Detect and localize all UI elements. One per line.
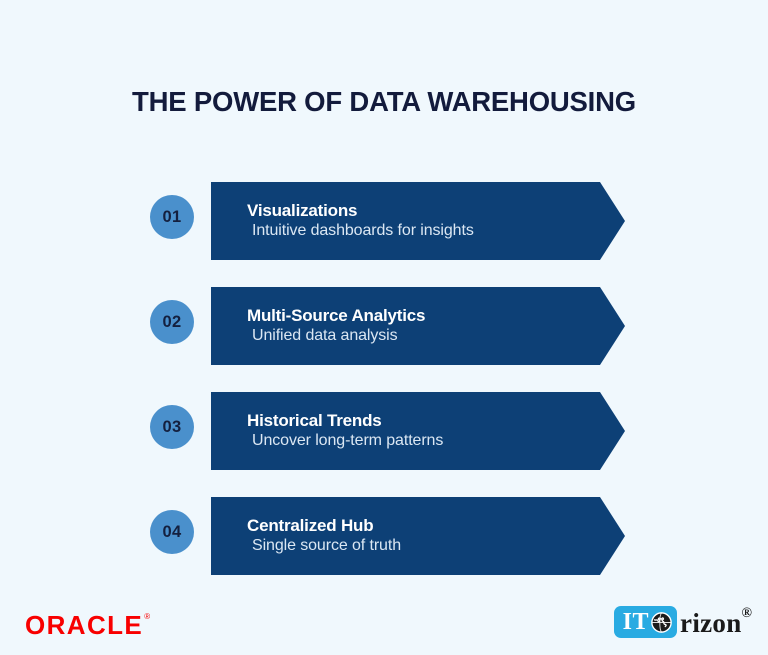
list-item: 02 Multi-Source Analytics Unified data a… — [0, 287, 768, 365]
oracle-logo: ORACLE ® — [25, 612, 150, 638]
step-number-badge: 03 — [150, 405, 194, 449]
registered-trademark-icon: ® — [742, 607, 752, 621]
steps-list: 01 Visualizations Intuitive dashboards f… — [0, 182, 768, 602]
itorizon-suffix: rizon — [680, 610, 742, 637]
step-title: Historical Trends — [247, 410, 625, 431]
step-subtitle: Single source of truth — [247, 536, 625, 557]
step-subtitle: Intuitive dashboards for insights — [247, 221, 625, 242]
step-title: Centralized Hub — [247, 515, 625, 536]
page-title: THE POWER OF DATA WAREHOUSING — [0, 86, 768, 118]
list-item: 04 Centralized Hub Single source of trut… — [0, 497, 768, 575]
globe-icon — [651, 612, 672, 633]
step-banner[interactable]: Multi-Source Analytics Unified data anal… — [211, 287, 625, 365]
infographic-canvas: THE POWER OF DATA WAREHOUSING 01 Visuali… — [0, 0, 768, 655]
step-subtitle: Uncover long-term patterns — [247, 431, 625, 452]
oracle-wordmark: ORACLE — [25, 612, 143, 638]
step-number-badge: 04 — [150, 510, 194, 554]
step-banner[interactable]: Historical Trends Uncover long-term patt… — [211, 392, 625, 470]
itorizon-prefix: IT — [623, 610, 649, 634]
step-title: Multi-Source Analytics — [247, 305, 625, 326]
step-number-badge: 01 — [150, 195, 194, 239]
itorizon-logo: IT rizon ® — [614, 606, 752, 638]
step-banner[interactable]: Centralized Hub Single source of truth — [211, 497, 625, 575]
registered-trademark-icon: ® — [144, 613, 150, 621]
step-banner[interactable]: Visualizations Intuitive dashboards for … — [211, 182, 625, 260]
step-subtitle: Unified data analysis — [247, 326, 625, 347]
itorizon-badge: IT — [614, 606, 677, 638]
step-title: Visualizations — [247, 200, 625, 221]
list-item: 03 Historical Trends Uncover long-term p… — [0, 392, 768, 470]
step-number-badge: 02 — [150, 300, 194, 344]
list-item: 01 Visualizations Intuitive dashboards f… — [0, 182, 768, 260]
